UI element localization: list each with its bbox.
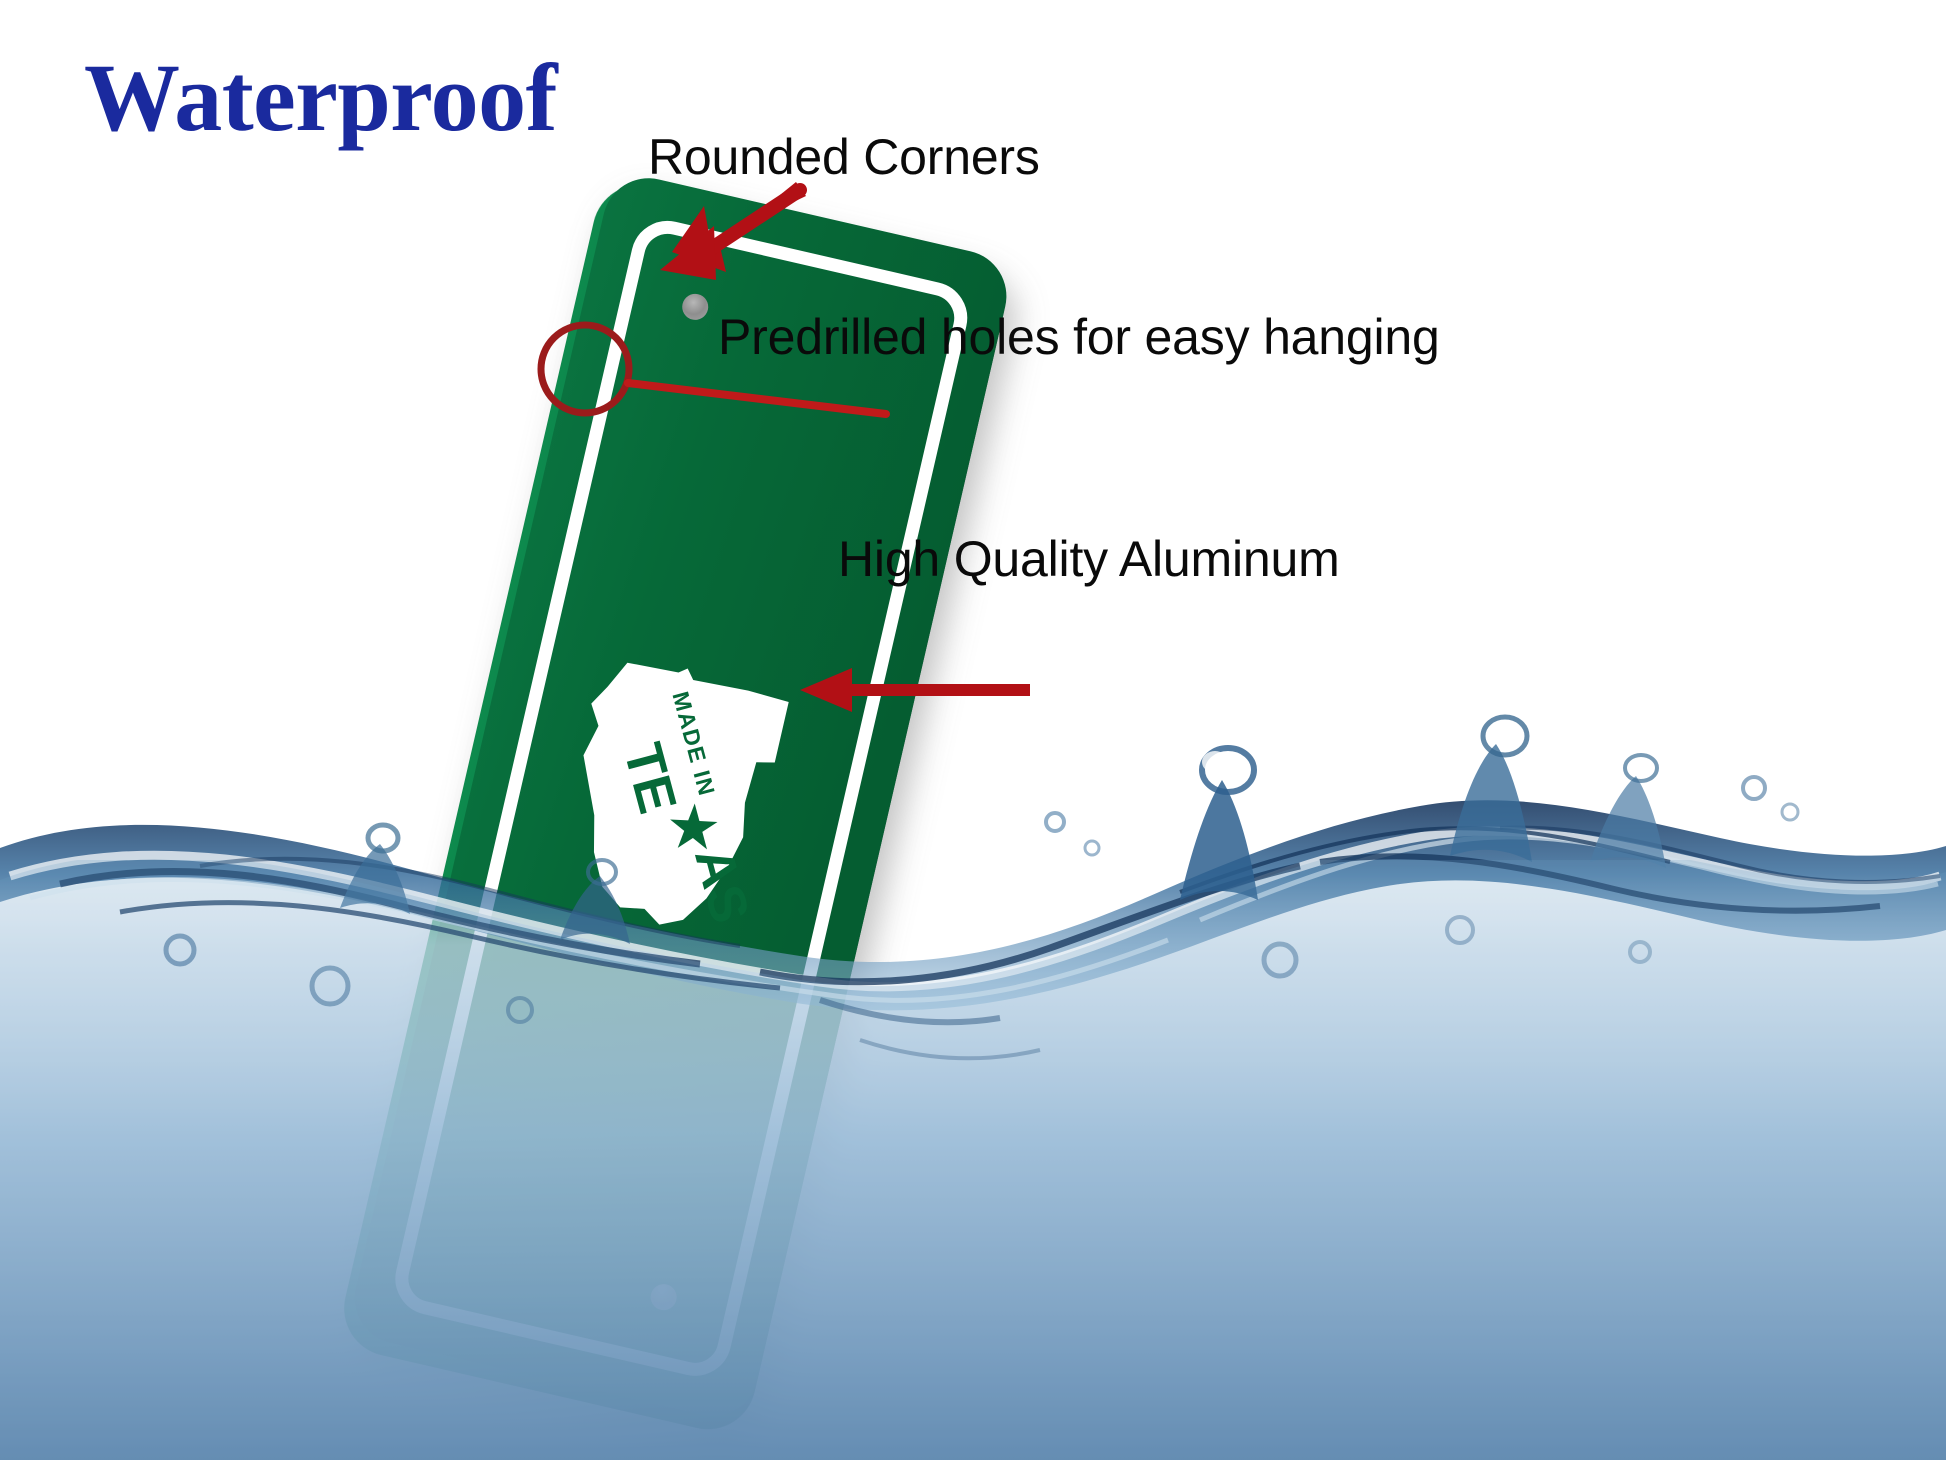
- water-tint-overlay: [0, 860, 1946, 1460]
- water-splash-graphic: [0, 0, 1946, 1460]
- infographic-canvas: MADE IN TE ★ AS: [0, 0, 1946, 1460]
